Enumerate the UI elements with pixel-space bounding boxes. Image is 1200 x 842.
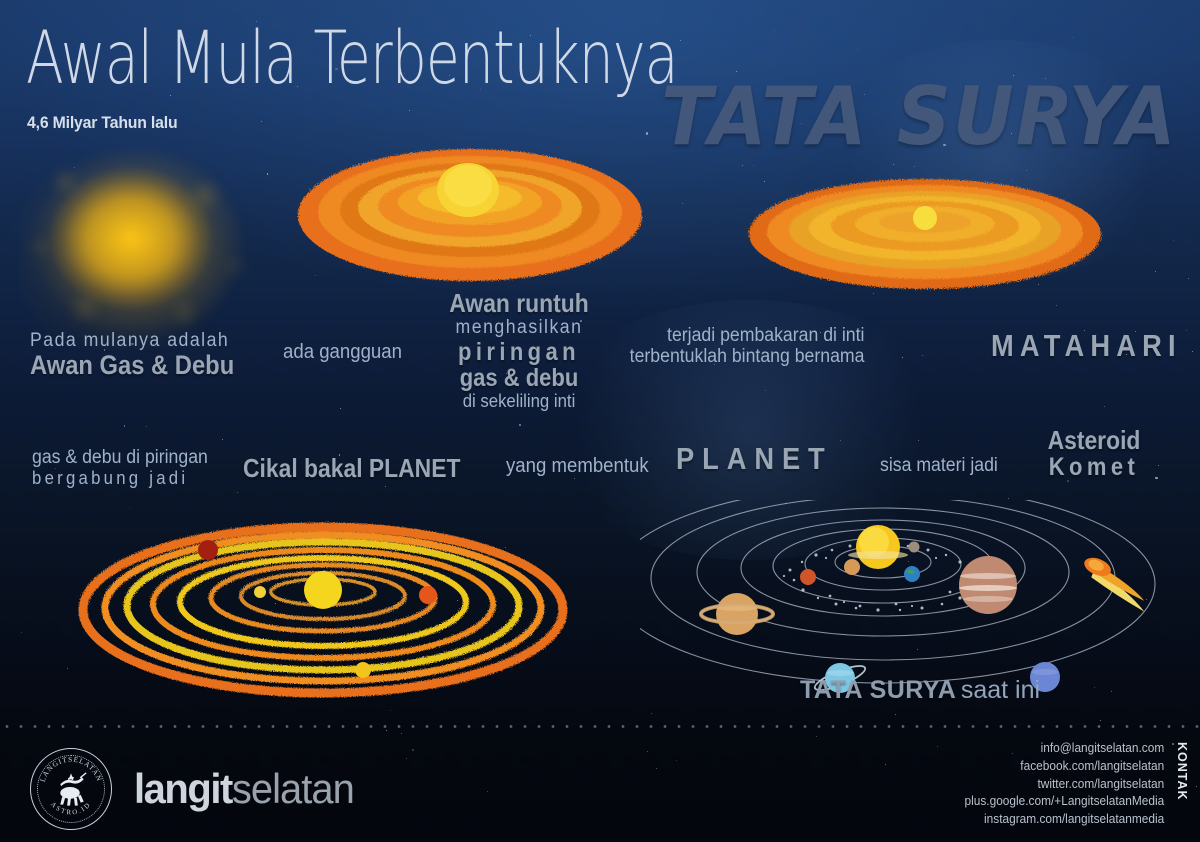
step-leftovers-bold-1: Asteroid [1048,427,1141,454]
brand-wordmark: langitselatan [134,768,354,810]
comet [1076,554,1157,611]
headline-tata-surya: TATA SURYA [661,78,1178,155]
svg-text:ASTRO.ID: ASTRO.ID [49,801,93,817]
step-collapse-bold-2: piringan [449,339,588,365]
contact-twitter[interactable]: twitter.com/langitselatan [964,776,1164,794]
kontak-label: KONTAK [1172,742,1190,801]
protoplanetary-disk-1-art [295,140,645,290]
step-collapse-thin-1: menghasilkan [445,317,592,338]
step-disturbance-thin: ada gangguan [283,341,402,363]
step-accretion-bold: Cikal bakal PLANET [243,455,460,482]
step-cloud-thin: Pada mulanya adalah [30,330,246,351]
planet-earth [904,566,920,582]
step-leftovers-thin-wrap: sisa materi jadi [880,455,1007,476]
step-star-thin-2: terbentuklah bintang bernama [629,346,864,367]
planetesimal-disk-art [78,518,568,698]
logo-emblem-icon: LANGITSELATAN ASTRO.ID [31,749,111,829]
step-leftovers-bold-2: Komet [1048,454,1141,480]
step-accretion-bold-wrap: Cikal bakal PLANET [243,455,490,482]
brand-lockup: LANGITSELATAN ASTRO.ID [30,748,365,830]
brand-light: selatan [232,765,354,812]
langitselatan-logo: LANGITSELATAN ASTRO.ID [30,748,112,830]
planet-venus [844,559,860,575]
step-star-matahari: MATAHARI [965,330,1182,363]
protoplanetary-disk-2-art [745,172,1105,294]
step-planets-thin-wrap: yang membentuk [506,455,659,477]
footer-divider [0,725,1200,728]
logo-bottom-text: ASTRO.ID [49,801,93,817]
step-collapse-bold-1: Awan runtuh [449,290,588,317]
step-accretion-thin-1: gas & debu di piringan [32,447,208,468]
solar-system-caption-bold: TATA SURYA [800,676,956,704]
planet-saturn [701,593,773,635]
contact-googleplus[interactable]: plus.google.com/+LangitselatanMedia [964,793,1164,811]
step-collapse-bold-3: gas & debu [449,365,588,391]
contact-instagram[interactable]: instagram.com/langitselatanmedia [964,811,1164,829]
logo-sagittarius-figure [60,772,86,805]
planet-jupiter [959,556,1017,614]
solar-system-caption-thin: saat ini [961,676,1040,704]
step-collapse-thin-2: di sekeliling inti [445,391,592,411]
step-leftovers-bold-wrap: Asteroid Komet [1041,427,1146,481]
step-star-caption: terjadi pembakaran di inti terbentuklah … [612,325,864,368]
step-planets-bold: PLANET [676,443,833,476]
step-star-bold: MATAHARI [991,330,1182,363]
contact-email[interactable]: info@langitselatan.com [964,740,1164,758]
planet-mercury [909,542,920,553]
step-accretion-caption: gas & debu di piringan bergabung jadi [32,447,221,488]
planet-mars [800,569,816,585]
step-planets-bold-wrap: PLANET [676,443,854,476]
gas-dust-cloud-art [20,135,250,350]
step-star-thin-1: terjadi pembakaran di inti [629,325,864,346]
step-cloud-bold: Awan Gas & Debu [30,351,234,379]
step-collapse-caption: Awan runtuh menghasilkan piringan gas & … [440,290,598,411]
brand-bold: langit [134,765,232,812]
poster-root: Awal Mula Terbentuknya 4,6 Milyar Tahun … [0,0,1200,842]
step-leftovers-thin: sisa materi jadi [880,455,998,476]
step-disturbance-caption: ada gangguan [283,341,411,363]
solar-system-caption: TATA SURYA saat ini [800,676,1040,704]
step-planets-thin: yang membentuk [506,455,649,477]
step-accretion-thin-2: bergabung jadi [32,468,208,488]
contact-list: info@langitselatan.com facebook.com/lang… [964,740,1164,829]
page-title: Awal Mula Terbentuknya [26,22,678,95]
step-cloud-caption: Pada mulanya adalah Awan Gas & Debu [30,330,262,380]
contact-facebook[interactable]: facebook.com/langitselatan [964,758,1164,776]
